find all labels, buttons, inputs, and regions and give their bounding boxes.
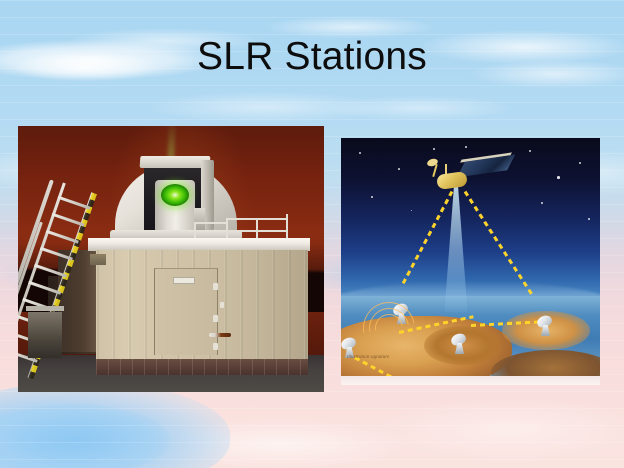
artwork-signature: illustration signature: [347, 355, 389, 360]
door-hinge-middle: [213, 315, 218, 322]
star: [371, 196, 373, 198]
laser-aperture-icon: [161, 184, 189, 206]
ground-station-2: [451, 334, 469, 356]
star: [359, 152, 361, 154]
wall-fixture: [220, 302, 224, 308]
door-handle: [209, 333, 231, 337]
dome-shutter-top: [140, 156, 211, 168]
building-door: [154, 268, 218, 355]
station-building: [96, 250, 308, 362]
page-title: SLR Stations: [0, 33, 624, 81]
star: [433, 148, 435, 150]
star: [557, 176, 560, 179]
photo-bottom-matte: [341, 376, 600, 385]
stair-step: [52, 213, 85, 227]
star: [465, 146, 467, 148]
ground-station-4: [537, 316, 555, 338]
star: [529, 150, 531, 152]
door-placard: [173, 277, 195, 284]
stair-step: [40, 247, 73, 261]
equipment-shelter: [28, 312, 62, 358]
stair-step: [28, 281, 61, 295]
star: [541, 202, 543, 204]
roof-vent: [90, 254, 106, 265]
stair-step: [46, 230, 79, 244]
slide-canvas: SLR Stations: [0, 0, 624, 468]
door-hinge-bottom: [213, 343, 218, 350]
stair-step: [57, 196, 90, 210]
building-brick-base: [96, 359, 308, 375]
slr-observatory-photo[interactable]: [18, 126, 324, 392]
stair-step: [34, 264, 67, 278]
equipment-shelter-roof: [26, 306, 64, 311]
star: [588, 218, 590, 220]
star: [579, 162, 581, 164]
satellite-laser-ranging-illustration[interactable]: illustration signature: [341, 138, 600, 385]
door-hinge-top: [213, 283, 218, 290]
star: [398, 168, 400, 170]
roof-railing-return-top: [194, 222, 228, 224]
brick-mortar-lines: [96, 359, 308, 375]
